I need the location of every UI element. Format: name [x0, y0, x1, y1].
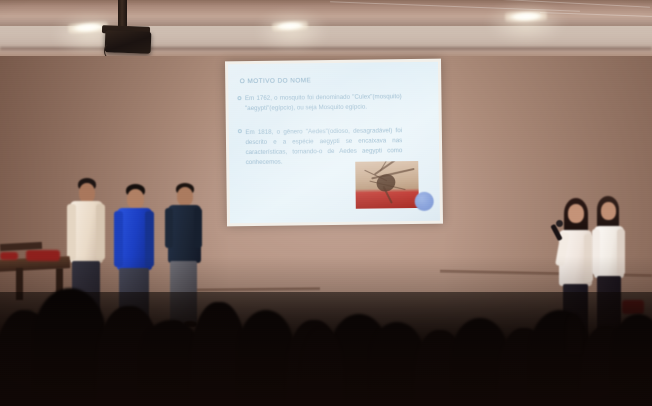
slide-bullet-1-text: Em 1762, o mosquito foi denominado "Cule… — [238, 92, 402, 114]
floor-shadow — [0, 256, 652, 406]
arm-right — [194, 208, 202, 248]
arm-right — [96, 204, 105, 260]
ceiling-light — [505, 10, 547, 22]
mosquito-photo — [355, 161, 419, 209]
ceiling-light-glow — [486, 2, 566, 44]
head — [568, 204, 584, 223]
head — [601, 202, 616, 220]
head — [127, 189, 144, 209]
projection-screen: O MOTIVO DO NOME Em 1762, o mosquito foi… — [228, 62, 440, 224]
presentation-room-photo: O MOTIVO DO NOME Em 1762, o mosquito foi… — [0, 0, 652, 406]
head — [177, 187, 193, 206]
microphone-head — [556, 220, 563, 227]
ceiling-light-glow — [255, 10, 329, 52]
slide-bullet-1: Em 1762, o mosquito foi denominado "Cule… — [238, 92, 402, 114]
arm-left — [165, 208, 173, 248]
ceiling-light — [272, 20, 308, 32]
slide-accent-dot — [414, 192, 433, 211]
slide-title: O MOTIVO DO NOME — [240, 77, 312, 85]
head — [79, 183, 95, 203]
arm-left — [67, 204, 76, 260]
